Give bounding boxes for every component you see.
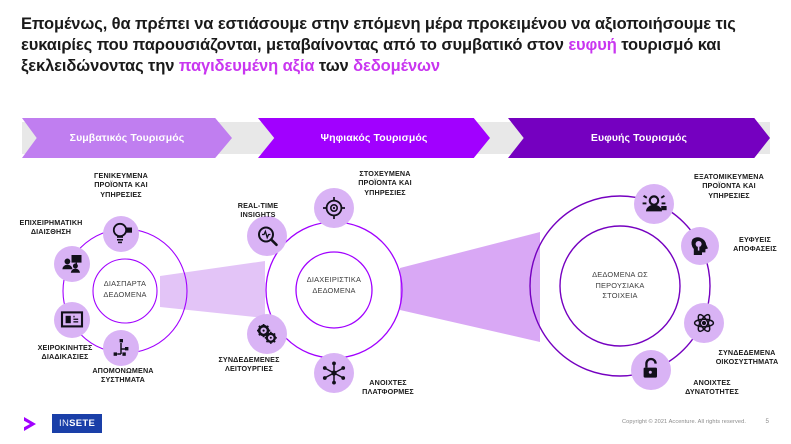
insete-prefix: IN	[59, 418, 69, 429]
stage-label: Συμβατικός Τουρισμός	[70, 132, 185, 144]
node-label-connected-ecosystems: ΣΥΝΔΕΔΕΜΕΝΑ ΟΙΚΟΣΥΣΤΗΜΑΤΑ	[705, 348, 789, 367]
beam-connector-1	[160, 261, 265, 318]
page-title: Επομένως, θα πρέπει να εστιάσουμε στην ε…	[21, 14, 773, 77]
maturity-diagram: ΔΙΑΣΠΑΡΤΑ ΔΕΔΟΜΕΝΑ ΔΙΑΧΕΙΡΙΣΤΙΚΑ ΔΕΔΟΜΕΝ…	[0, 158, 791, 408]
node-circle-book	[54, 302, 90, 338]
cluster-center-label-2: ΔΙΑΧΕΙΡΙΣΤΙΚΑ ΔΕΔΟΜΕΝΑ	[286, 275, 382, 296]
node-label-manual-processes: ΧΕΙΡΟΚΙΝΗΤΕΣ ΔΙΑΔΙΚΑΣΙΕΣ	[17, 343, 113, 362]
node-circle-people	[54, 246, 90, 282]
node-circle-lightbulb	[103, 216, 139, 252]
headline-highlight: ευφυή	[568, 36, 616, 54]
node-label-isolated-systems: ΑΠΟΜΟΝΩΜΕΝΑ ΣΥΣΤΗΜΑΤΑ	[75, 366, 171, 385]
beam-connector-2	[400, 232, 540, 342]
stage-label: Ψηφιακός Τουρισμός	[321, 132, 428, 144]
stage-chevron-conventional[interactable]: Συμβατικός Τουρισμός	[22, 118, 232, 158]
stage-chevron-digital[interactable]: Ψηφιακός Τουρισμός	[258, 118, 490, 158]
stage-label: Ευφυής Τουρισμός	[591, 132, 687, 144]
node-label-open-capabilities: ΑΝΟΙΧΤΕΣ ΔΥΝΑΤΟΤΗΤΕΣ	[672, 378, 752, 397]
node-label-realtime-insights: REAL-TIME INSIGHTS	[219, 201, 297, 220]
headline-highlight: δεδομένων	[353, 57, 440, 75]
greater-than-arrow-icon	[22, 416, 42, 432]
node-label-generic-products: ΓΕΝΙΚΕΥΜΕΝΑ ΠΡΟΪΟΝΤΑ ΚΑΙ ΥΠΗΡΕΣΙΕΣ	[74, 171, 168, 199]
copyright-text: Copyright © 2021 Accenture. All rights r…	[622, 419, 746, 425]
cluster-center-label-1: ΔΙΑΣΠΑΡΤΑ ΔΕΔΟΜΕΝΑ	[84, 279, 166, 300]
footer: INSETE Copyright © 2021 Accenture. All r…	[0, 408, 791, 444]
insete-suffix: SETE	[69, 418, 95, 429]
node-label-targeted-products: ΣΤΟΧΕΥΜΕΝΑ ΠΡΟΪΟΝΤΑ ΚΑΙ ΥΠΗΡΕΣΙΕΣ	[340, 169, 430, 197]
stage-chevron-intelligent[interactable]: Ευφυής Τουρισμός	[508, 118, 770, 158]
stage-banner: Συμβατικός Τουρισμός Ψηφιακός Τουρισμός …	[0, 118, 791, 158]
node-label-open-platforms: ΑΝΟΙΧΤΕΣ ΠΛΑΤΦΟΡΜΕΣ	[345, 378, 431, 397]
node-label-connected-operations: ΣΥΝΔΕΔΕΜΕΝΕΣ ΛΕΙΤΟΥΡΓΙΕΣ	[199, 355, 299, 374]
node-label-personalized-products: ΕΞΑΤΟΜΙΚΕΥΜΕΝΑ ΠΡΟΪΟΝΤΑ ΚΑΙ ΥΠΗΡΕΣΙΕΣ	[676, 172, 782, 200]
insete-logo: INSETE	[52, 414, 102, 433]
headline-text: των	[314, 57, 353, 75]
node-label-intelligent-decisions: ΕΥΦΥΕΙΣ ΑΠΟΦΑΣΕΙΣ	[724, 235, 786, 254]
node-label-business-intuition: ΕΠΙΧΕΙΡΗΜΑΤΙΚΗ ΔΙΑΙΣΘΗΣΗ	[3, 218, 99, 237]
page-number: 5	[766, 418, 769, 425]
cluster-center-label-3: ΔΕΔΟΜΕΝΑ ΩΣ ΠΕΡΟΥΣΙΑΚΑ ΣΤΟΙΧΕΙΑ	[562, 270, 678, 302]
headline-highlight: παγιδευμένη αξία	[179, 57, 315, 75]
